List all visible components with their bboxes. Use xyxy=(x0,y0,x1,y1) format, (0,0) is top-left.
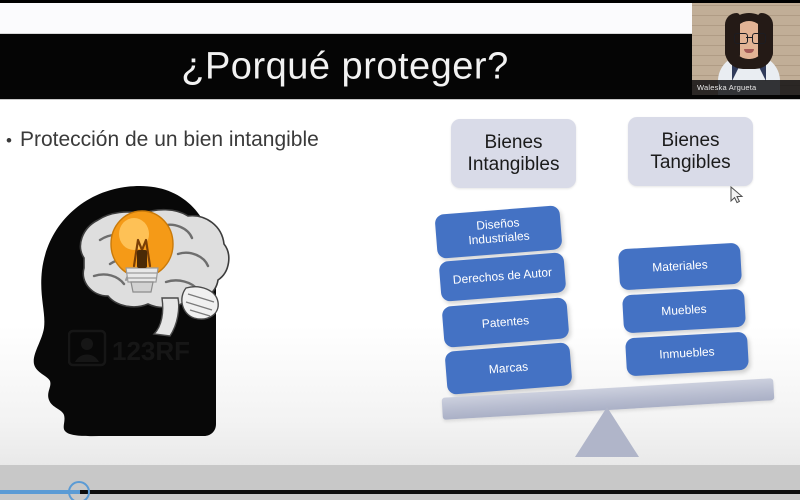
page-title: ¿Porqué proteger? xyxy=(0,45,690,88)
item-label-line1: Derechos de Autor xyxy=(452,266,552,288)
item-box-marcas: Marcas xyxy=(445,342,573,395)
video-player-screen: ¿Porqué proteger? • Protección de un bie… xyxy=(0,0,800,500)
head-brain-lightbulb-illustration: 123RF xyxy=(28,178,243,443)
slide-top-margin xyxy=(0,3,800,33)
item-label-line1: Marcas xyxy=(488,360,528,377)
balance-diagram: Bienes Intangibles Bienes Tangibles Dise… xyxy=(420,100,800,465)
item-box-disenos-industriales: Diseños Industriales xyxy=(434,205,562,259)
item-label-line1: Muebles xyxy=(661,303,707,319)
balance-fulcrum-icon xyxy=(575,407,639,457)
video-progress-handle[interactable] xyxy=(68,481,90,500)
item-label-line1: Materiales xyxy=(652,258,708,275)
bullet-marker-icon: • xyxy=(6,132,12,149)
item-label-line1: Patentes xyxy=(481,314,529,331)
webcam-name-bar: Waleska Argueta xyxy=(692,80,800,95)
category-label-line1: Bienes xyxy=(484,132,542,153)
item-box-materiales: Materiales xyxy=(618,243,742,291)
slide-body: • Protección de un bien intangible xyxy=(0,100,800,465)
video-progress-track[interactable] xyxy=(0,490,800,494)
item-box-muebles: Muebles xyxy=(622,289,746,334)
item-label-line1: Inmuebles xyxy=(659,346,715,363)
bullet-line: • Protección de un bien intangible xyxy=(6,128,319,152)
glasses-lens-left xyxy=(734,33,748,44)
webcam-overlay[interactable]: Waleska Argueta xyxy=(692,3,800,95)
item-box-derechos-de-autor: Derechos de Autor xyxy=(439,252,567,302)
glasses-lens-right xyxy=(752,33,766,44)
bullet-text: Protección de un bien intangible xyxy=(20,128,319,152)
category-label-line2: Tangibles xyxy=(650,152,730,173)
slide-title-band: ¿Porqué proteger? xyxy=(0,33,800,100)
participant-name-label: Waleska Argueta xyxy=(692,83,756,92)
category-label-line1: Bienes xyxy=(661,130,719,151)
participant-glasses xyxy=(734,33,764,42)
category-box-tangibles: Bienes Tangibles xyxy=(628,117,753,186)
item-box-inmuebles: Inmuebles xyxy=(625,332,749,377)
item-label-line2: Industriales xyxy=(468,230,530,249)
item-box-patentes: Patentes xyxy=(442,297,570,348)
video-player-controls xyxy=(0,465,800,500)
category-label-line2: Intangibles xyxy=(468,154,560,175)
category-box-intangibles: Bienes Intangibles xyxy=(451,119,576,188)
presentation-slide: ¿Porqué proteger? • Protección de un bie… xyxy=(0,3,800,465)
